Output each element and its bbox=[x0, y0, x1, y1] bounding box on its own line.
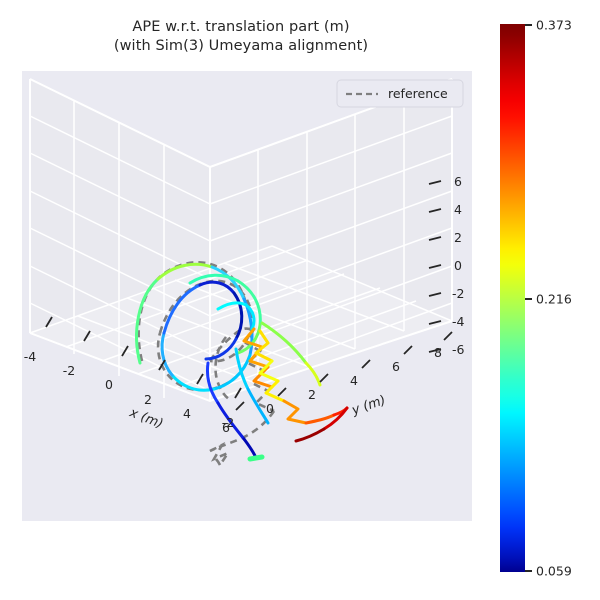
y-tick-label: -2 bbox=[222, 415, 234, 430]
z-tick-label: 2 bbox=[454, 230, 462, 245]
x-axis-label: x (m) bbox=[126, 405, 165, 432]
y-tick-label: 0 bbox=[266, 401, 274, 416]
y-tick-label: 6 bbox=[392, 359, 400, 374]
x-tick-label: 0 bbox=[105, 377, 113, 392]
z-axis-tick-labels: 6 4 2 0 -2 -4 -6 bbox=[452, 174, 465, 357]
x-tick-label: 4 bbox=[183, 406, 191, 421]
legend-label-reference: reference bbox=[388, 86, 448, 101]
axes-svg: -4 -2 0 2 4 6 x (m) -2 0 2 4 bbox=[22, 71, 472, 521]
z-tick-label: -4 bbox=[452, 314, 465, 329]
y-tick-label: 8 bbox=[434, 345, 442, 360]
y-axis-label: y (m) bbox=[349, 393, 388, 419]
colorbar-label-min: 0.059 bbox=[536, 564, 572, 579]
z-tick-label: -2 bbox=[452, 286, 464, 301]
z-tick-label: -6 bbox=[452, 342, 465, 357]
colorbar-label-max: 0.373 bbox=[536, 18, 572, 33]
x-tick-label: 2 bbox=[144, 392, 152, 407]
z-tick-label: 0 bbox=[454, 258, 462, 273]
colorbar-tick-mid bbox=[525, 298, 532, 300]
colorbar-gradient bbox=[500, 24, 525, 572]
z-tick-label: 4 bbox=[454, 202, 462, 217]
colorbar-tick-max bbox=[525, 24, 532, 26]
colorbar-label-mid: 0.216 bbox=[536, 292, 572, 307]
legend-box[interactable]: reference bbox=[337, 80, 463, 107]
x-tick-label: -4 bbox=[24, 349, 37, 364]
figure-canvas: APE w.r.t. translation part (m) (with Si… bbox=[0, 0, 600, 600]
z-tick-label: 6 bbox=[454, 174, 462, 189]
colorbar-tick-min bbox=[525, 570, 532, 572]
colorbar[interactable]: 0.373 0.216 0.059 bbox=[500, 24, 525, 572]
y-tick-label: 4 bbox=[350, 373, 358, 388]
plot-axes-3d[interactable]: -4 -2 0 2 4 6 x (m) -2 0 2 4 bbox=[22, 71, 472, 521]
y-tick-label: 2 bbox=[308, 387, 316, 402]
chart-title: APE w.r.t. translation part (m) (with Si… bbox=[0, 18, 482, 56]
x-tick-label: -2 bbox=[63, 363, 75, 378]
